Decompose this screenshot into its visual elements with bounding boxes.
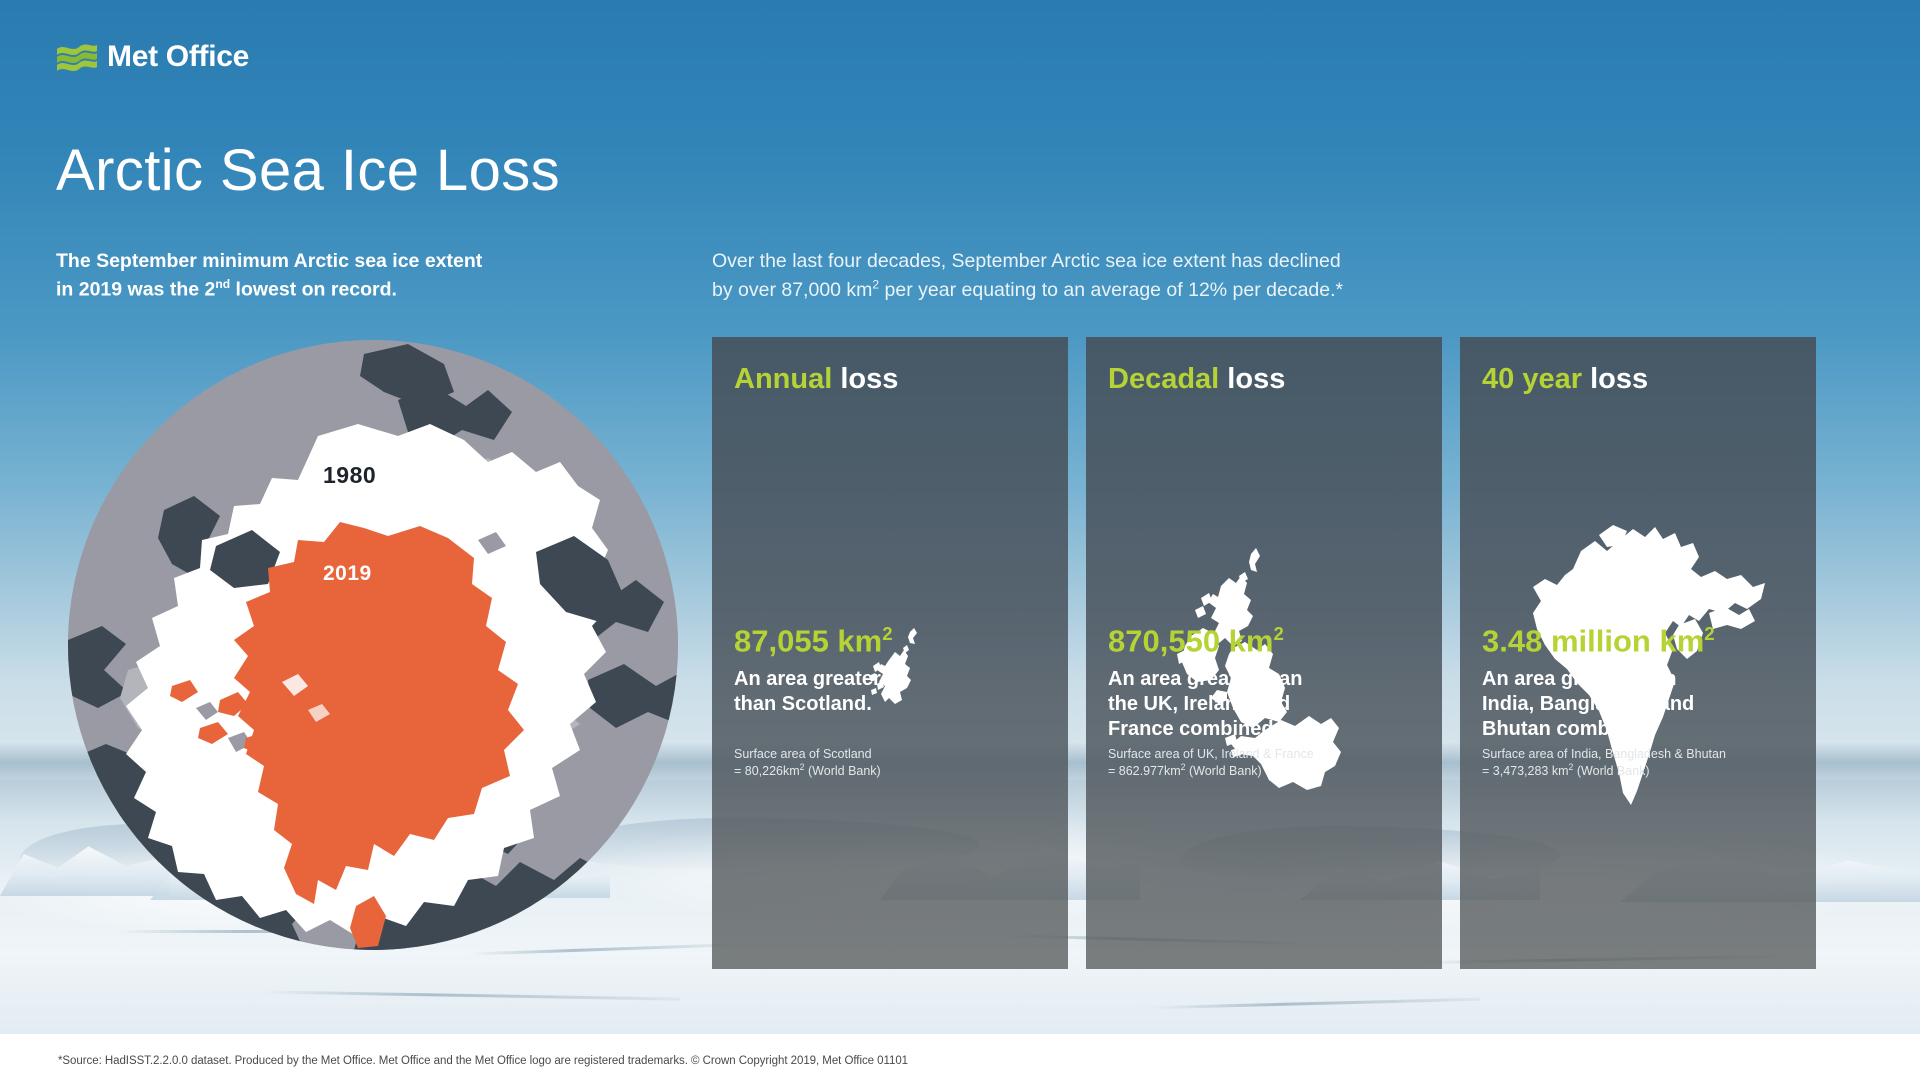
card-desc-line-1: An area greater than	[1108, 668, 1303, 690]
card-value-squared: 2	[1704, 623, 1714, 644]
card-desc-line-2: India, Bangladesh and	[1482, 693, 1694, 715]
arctic-map-graphic	[68, 340, 678, 950]
arctic-map-circle	[68, 340, 678, 950]
lead-left-line-1: The September minimum Arctic sea ice ext…	[56, 250, 482, 272]
card-heading-highlight: Annual	[734, 363, 832, 395]
lead-right-line-2-pre: by over 87,000 km	[712, 279, 872, 301]
lead-right-line-2-post: per year equating to an average of 12% p…	[879, 279, 1343, 301]
card-source-line-2-post: (World Bank)	[805, 764, 881, 778]
lead-statement-right: Over the last four decades, September Ar…	[712, 247, 1392, 305]
card-desc-line-1: An area greater than	[1482, 668, 1677, 690]
card-value-squared: 2	[1273, 623, 1283, 644]
lead-left-line-2-pre: in 2019 was the 2	[56, 278, 215, 300]
card-description: An area greater than Scotland.	[734, 667, 1044, 717]
card-desc-line-2: the UK, Ireland and	[1108, 693, 1290, 715]
card-value-squared: 2	[882, 623, 892, 644]
card-desc-line-2: than Scotland.	[734, 693, 872, 715]
card-source-note: Surface area of India, Bangladesh & Bhut…	[1482, 746, 1802, 780]
map-label-2019: 2019	[323, 562, 372, 586]
stat-card-decadal-loss[interactable]: Decadal loss	[1086, 337, 1442, 969]
card-value-number: 870,550 km	[1108, 623, 1273, 658]
lead-statement-left: The September minimum Arctic sea ice ext…	[56, 248, 526, 304]
stat-card-annual-loss[interactable]: Annual loss 87,055 km2 An area greater	[712, 337, 1068, 969]
card-value-number: 3.48 million km	[1482, 623, 1704, 658]
card-desc-line-3: Bhutan combined.	[1482, 718, 1656, 740]
card-desc-line-3: France combined.	[1108, 718, 1279, 740]
card-source-line-2-post: (World Bank)	[1573, 764, 1649, 778]
met-office-logo-text: Met Office	[107, 42, 249, 72]
page-title: Arctic Sea Ice Loss	[56, 142, 560, 200]
card-heading-highlight: Decadal	[1108, 363, 1219, 395]
lead-left-line-2-post: lowest on record.	[230, 278, 397, 300]
card-description: An area greater than the UK, Ireland and…	[1108, 667, 1418, 743]
card-desc-line-1: An area greater	[734, 668, 881, 690]
footer-source-note: *Source: HadISST.2.2.0.0 dataset. Produc…	[58, 1055, 908, 1067]
card-source-line-2-pre: = 862.977km	[1108, 764, 1181, 778]
card-heading-highlight: 40 year	[1482, 363, 1582, 395]
card-source-line-1: Surface area of UK, Ireland & France	[1108, 747, 1314, 761]
card-source-line-1: Surface area of India, Bangladesh & Bhut…	[1482, 747, 1726, 761]
card-source-line-2-post: (World Bank)	[1186, 764, 1262, 778]
card-source-note: Surface area of Scotland = 80,226km2 (Wo…	[734, 746, 1054, 780]
card-heading-plain: loss	[1227, 363, 1285, 395]
infographic-canvas: Met Office Arctic Sea Ice Loss The Septe…	[0, 0, 1920, 1080]
card-description: An area greater than India, Bangladesh a…	[1482, 667, 1792, 743]
arctic-map: 1980 2019	[68, 340, 678, 950]
card-heading-plain: loss	[1590, 363, 1648, 395]
card-source-line-2-pre: = 3,473,283 km	[1482, 764, 1569, 778]
met-office-waves-logo-icon	[56, 42, 98, 72]
card-value-number: 87,055 km	[734, 623, 882, 658]
card-value: 870,550 km2	[1108, 625, 1284, 656]
card-value: 87,055 km2	[734, 625, 893, 656]
card-value: 3.48 million km2	[1482, 625, 1715, 656]
lead-right-line-1: Over the last four decades, September Ar…	[712, 250, 1341, 272]
card-source-line-2-pre: = 80,226km	[734, 764, 800, 778]
card-heading: 40 year loss	[1482, 365, 1794, 394]
map-label-1980: 1980	[323, 462, 376, 489]
card-source-note: Surface area of UK, Ireland & France = 8…	[1108, 746, 1428, 780]
card-heading-plain: loss	[840, 363, 898, 395]
lead-left-ordinal-suffix: nd	[215, 277, 230, 291]
card-heading: Decadal loss	[1108, 365, 1420, 394]
met-office-logo[interactable]: Met Office	[56, 42, 249, 72]
card-heading: Annual loss	[734, 365, 1046, 394]
card-source-line-1: Surface area of Scotland	[734, 747, 872, 761]
stat-card-40-year-loss[interactable]: 40 year loss 3.48 million km2 An area gr	[1460, 337, 1816, 969]
